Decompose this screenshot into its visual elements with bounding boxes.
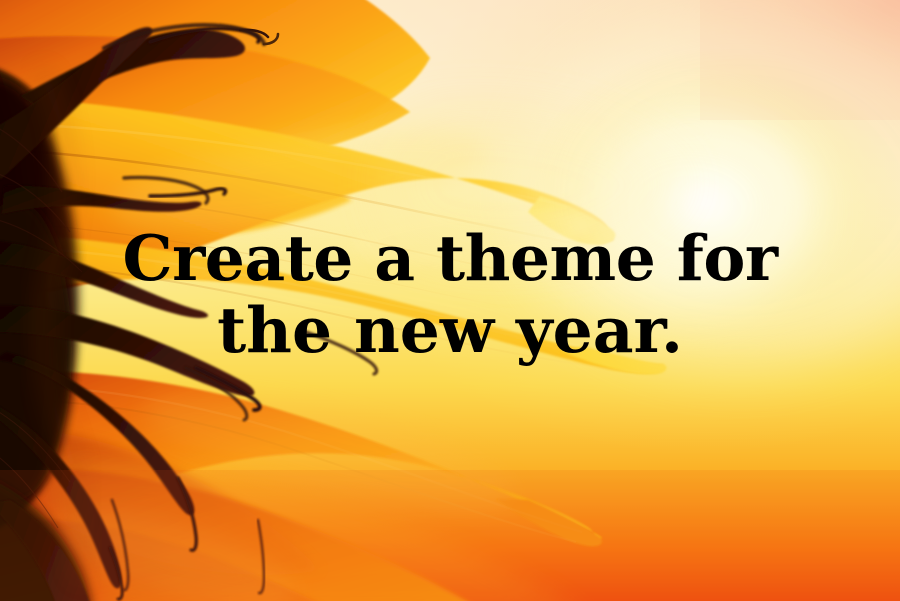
sunflower-photograph (0, 0, 900, 601)
sunflower-quote-banner: Create a theme for the new year. (0, 0, 900, 601)
